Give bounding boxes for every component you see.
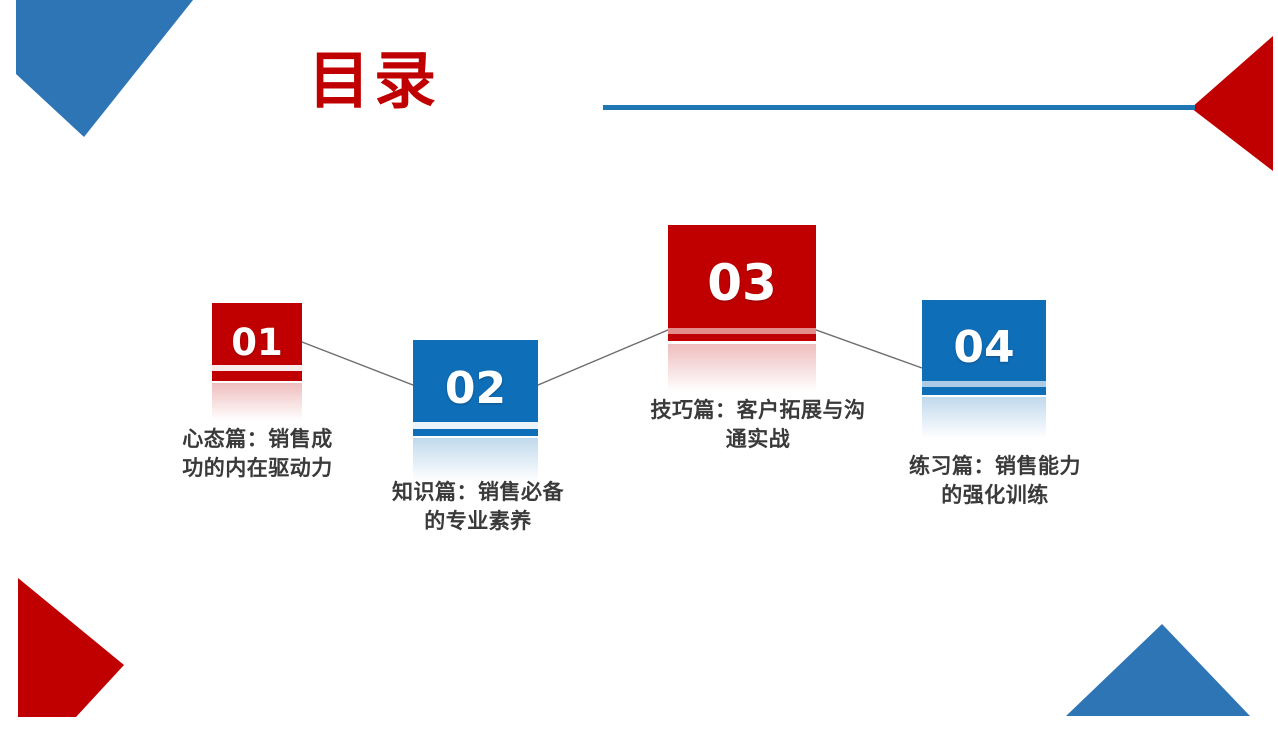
step-01-caption: 心态篇：销售成 功的内在驱动力	[150, 425, 365, 483]
step-item-02[interactable]: 02	[413, 340, 538, 436]
step-04-band	[922, 381, 1046, 387]
step-02-caption-line-1: 知识篇：销售必备	[358, 478, 598, 507]
step-04-reflection	[922, 397, 1046, 455]
step-02-caption-line-2: 的专业素养	[358, 507, 598, 536]
step-item-03[interactable]: 03	[668, 225, 816, 341]
step-04-caption: 练习篇：销售能力 的强化训练	[875, 452, 1115, 510]
step-01-band	[212, 365, 302, 371]
step-03-chip[interactable]: 03	[668, 225, 816, 341]
step-01-caption-line-1: 心态篇：销售成	[150, 425, 365, 454]
step-04-chip[interactable]: 04	[922, 300, 1046, 395]
step-01-caption-line-2: 功的内在驱动力	[150, 454, 365, 483]
step-02-caption: 知识篇：销售必备 的专业素养	[358, 478, 598, 536]
step-03-caption: 技巧篇：客户拓展与沟 通实战	[613, 396, 903, 454]
step-03-number: 03	[707, 254, 777, 312]
step-01-number: 01	[231, 321, 283, 364]
step-02-number: 02	[445, 363, 506, 414]
step-04-caption-line-2: 的强化训练	[875, 481, 1115, 510]
step-item-01[interactable]: 01	[212, 303, 302, 381]
step-item-04[interactable]: 04	[922, 300, 1046, 395]
step-04-caption-line-1: 练习篇：销售能力	[875, 452, 1115, 481]
slide-canvas: 目录 01 心态篇：销售成 功的内在驱动力 02 知识篇：销售必备 的专业素养 …	[0, 0, 1278, 735]
step-03-caption-line-2: 通实战	[613, 425, 903, 454]
step-01-chip[interactable]: 01	[212, 303, 302, 381]
connector-lines	[0, 0, 1278, 735]
step-02-band	[413, 422, 538, 429]
step-03-band	[668, 328, 816, 334]
step-02-chip[interactable]: 02	[413, 340, 538, 436]
step-03-caption-line-1: 技巧篇：客户拓展与沟	[613, 396, 903, 425]
step-04-number: 04	[953, 322, 1014, 373]
